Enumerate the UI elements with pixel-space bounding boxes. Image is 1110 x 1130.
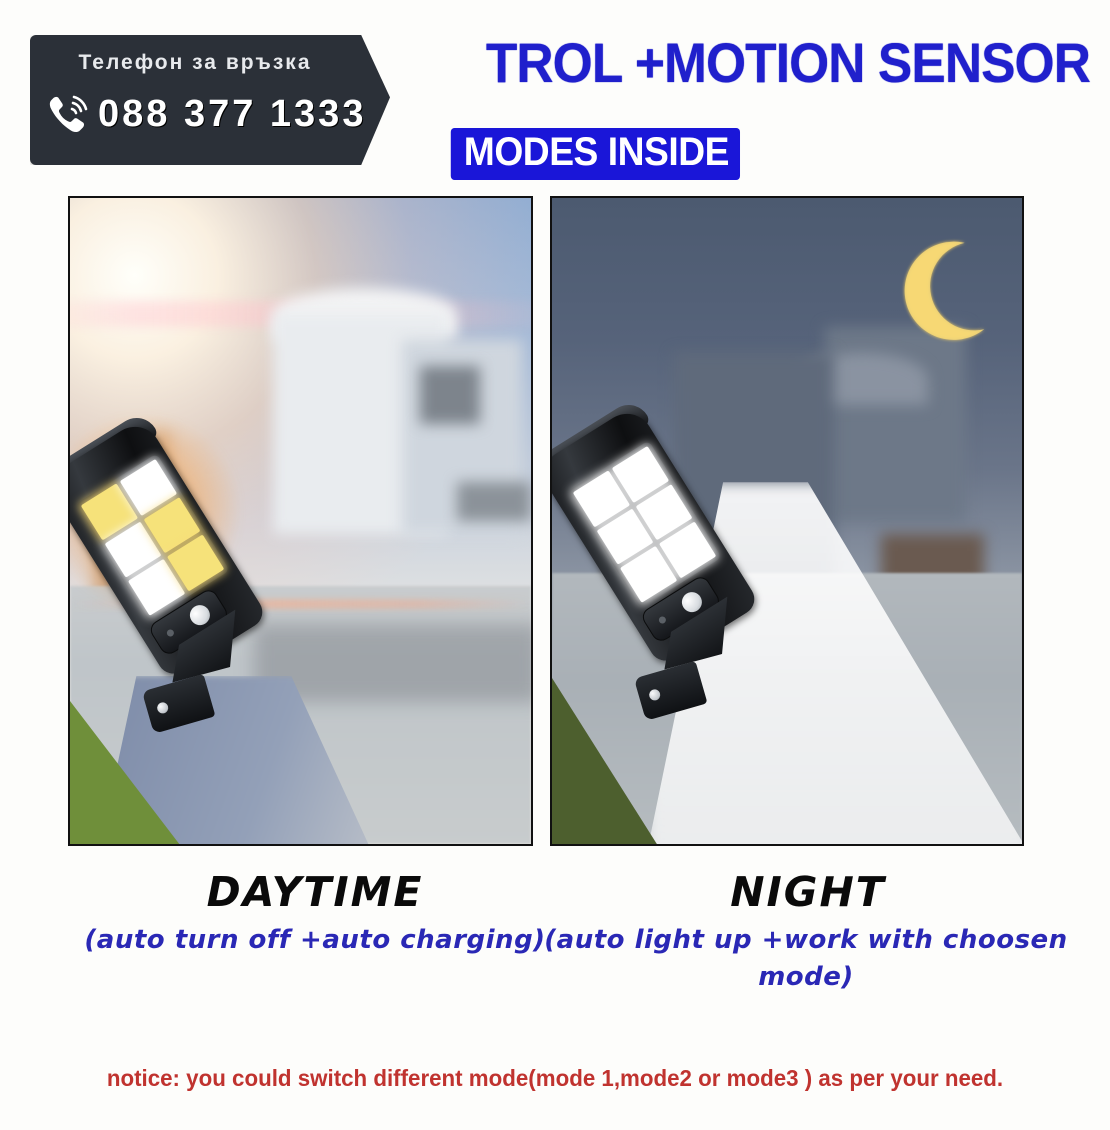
phone-banner-row: 088 377 1333 — [46, 91, 396, 137]
solar-lamp-daytime — [107, 418, 407, 748]
notice-text: notice: you could switch different mode(… — [17, 1065, 1094, 1092]
night-caption: NIGHT (auto light up +work with choosen … — [548, 868, 1068, 996]
night-subtitle-line2: mode) — [536, 959, 1076, 996]
wall-mount-bracket — [142, 674, 216, 734]
crescent-moon-icon — [886, 237, 994, 345]
advertisement-page: TROL +MOTION SENSOR MODES INSIDE Телефон… — [0, 0, 1110, 1130]
day-window-dark — [420, 366, 480, 424]
mount-screw — [648, 688, 662, 702]
sensor-indicator-dot — [658, 615, 668, 625]
mount-screw — [156, 701, 170, 715]
phone-number: 088 377 1333 — [98, 93, 366, 136]
phone-call-icon — [46, 91, 92, 137]
modes-badge: MODES INSIDE — [451, 128, 740, 180]
solar-lamp-night — [599, 405, 899, 735]
comparison-photos — [68, 196, 1024, 846]
night-photo — [550, 196, 1024, 846]
daytime-title: DAYTIME — [55, 868, 575, 916]
sensor-indicator-dot — [165, 628, 175, 638]
phone-banner-label: Телефон за връзка — [30, 51, 360, 75]
sensor-dome — [186, 601, 214, 629]
daytime-photo — [68, 196, 533, 846]
night-subtitle-line1: (auto light up +work with choosen — [536, 922, 1076, 959]
night-subtitle: (auto light up +work with choosen mode) — [536, 922, 1076, 996]
day-wall-shadow — [457, 482, 531, 521]
night-title: NIGHT — [548, 868, 1068, 916]
sensor-dome — [678, 588, 706, 616]
daytime-caption: DAYTIME (auto turn off +auto charging) — [55, 868, 575, 959]
contact-phone-banner[interactable]: Телефон за връзка 088 377 1333 — [30, 35, 390, 165]
wall-mount-bracket — [634, 661, 708, 721]
daytime-subtitle: (auto turn off +auto charging) — [55, 922, 575, 959]
